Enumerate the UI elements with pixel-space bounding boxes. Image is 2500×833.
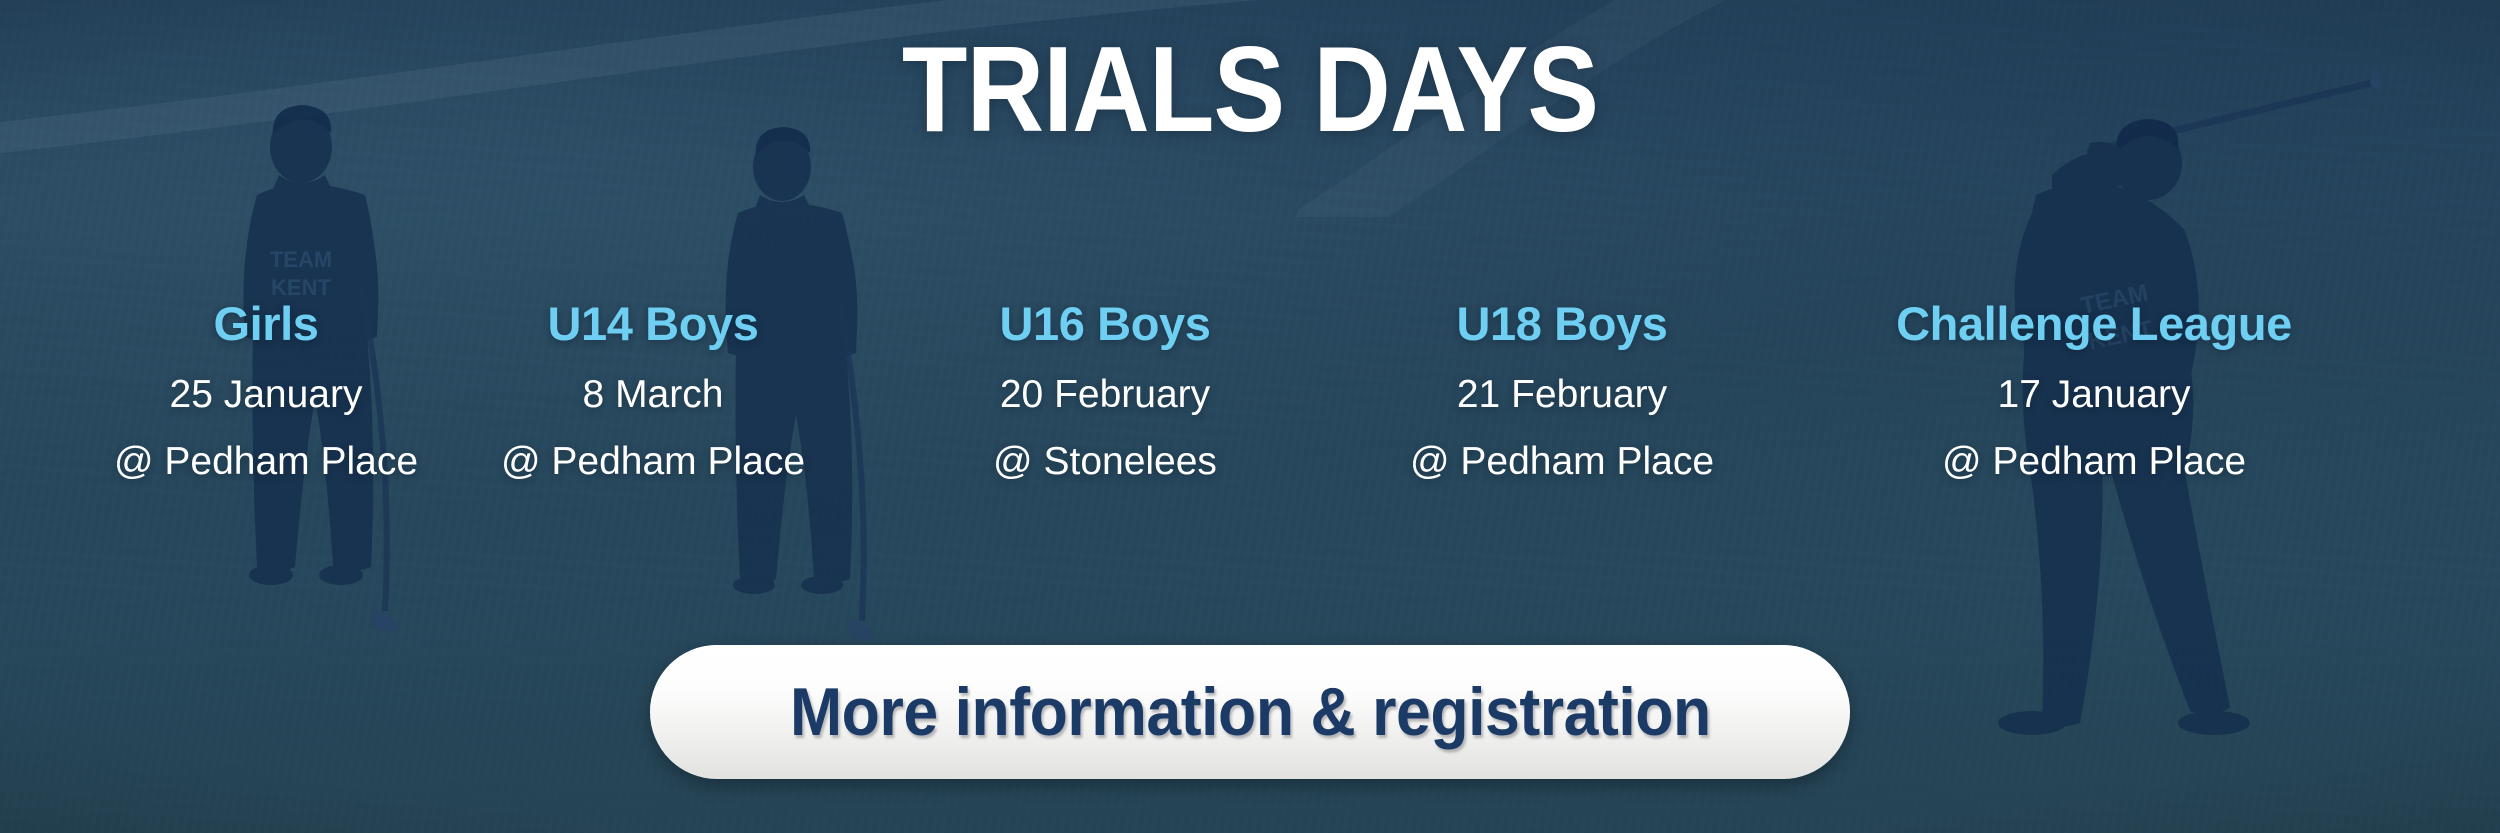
more-information-registration-button[interactable]: More information & registration [650, 645, 1850, 779]
trial-title: Challenge League [1794, 300, 2394, 349]
trial-title: U16 Boys [880, 300, 1330, 349]
trial-column-girls: Girls 25 January @ Pedham Place [100, 300, 432, 481]
trial-venue: @ Stonelees [880, 442, 1330, 481]
trial-column-u18-boys: U18 Boys 21 February @ Pedham Place [1336, 300, 1788, 481]
trial-column-u14-boys: U14 Boys 8 March @ Pedham Place [432, 300, 874, 481]
banner-content: TRIALS DAYS Girls 25 January @ Pedham Pl… [0, 0, 2500, 833]
trial-column-u16-boys: U16 Boys 20 February @ Stonelees [874, 300, 1336, 481]
trial-venue: @ Pedham Place [1794, 442, 2394, 481]
trial-venue: @ Pedham Place [1342, 442, 1782, 481]
trial-venue: @ Pedham Place [106, 442, 426, 481]
trial-date: 17 January [1794, 375, 2394, 414]
page-title: TRIALS DAYS [150, 28, 2350, 150]
trials-days-banner: TEAM KENT [0, 0, 2500, 833]
trial-date: 21 February [1342, 375, 1782, 414]
trial-date: 8 March [438, 375, 868, 414]
trial-column-challenge-league: Challenge League 17 January @ Pedham Pla… [1788, 300, 2400, 481]
trial-title: Girls [106, 300, 426, 349]
trial-title: U14 Boys [438, 300, 868, 349]
trial-date: 20 February [880, 375, 1330, 414]
trials-list: Girls 25 January @ Pedham Place U14 Boys… [0, 300, 2500, 481]
trial-date: 25 January [106, 375, 426, 414]
cta-button-label: More information & registration [790, 678, 1711, 746]
trial-title: U18 Boys [1342, 300, 1782, 349]
trial-venue: @ Pedham Place [438, 442, 868, 481]
cta-area: More information & registration [0, 645, 2500, 779]
